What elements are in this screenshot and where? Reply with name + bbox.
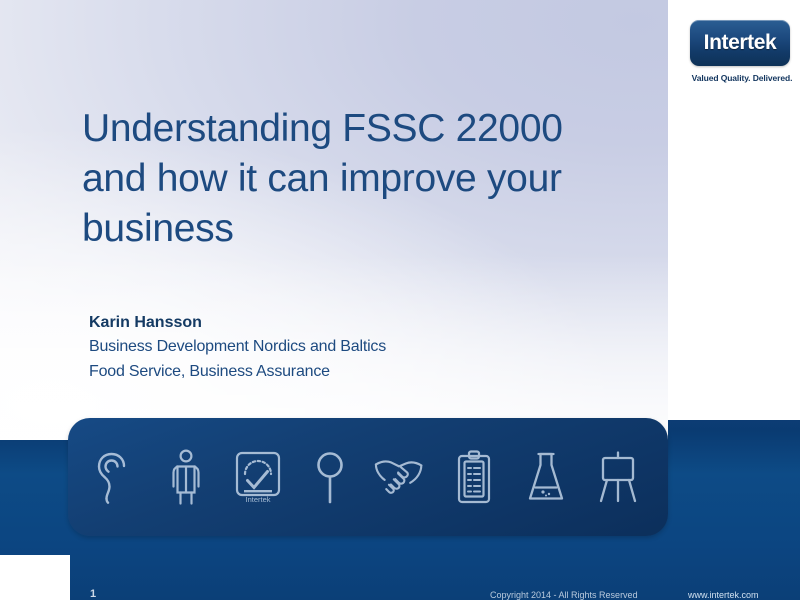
intertek-logo: Intertek Valued Quality. Delivered. <box>690 20 794 83</box>
logo-tagline: Valued Quality. Delivered. <box>690 73 794 83</box>
title-line-1: Understanding FSSC 22000 <box>82 104 622 154</box>
presenter-name: Karin Hansson <box>89 312 589 334</box>
presentation-slide: Intertek Valued Quality. Delivered. Unde… <box>0 0 800 600</box>
icon-band-panel: Intertek <box>68 418 668 536</box>
presenter-role: Business Development Nordics and Baltics <box>89 334 589 359</box>
icon-row: Intertek <box>86 444 646 510</box>
title-line-3: business <box>82 204 622 254</box>
title-line-2: and how it can improve your <box>82 154 622 204</box>
logo-badge: Intertek <box>690 20 790 66</box>
slide-page-number: 1 <box>90 588 96 600</box>
clipboard-checklist-icon <box>446 446 502 508</box>
magnifying-glass-icon <box>302 446 358 508</box>
erlenmeyer-flask-icon <box>518 446 574 508</box>
footer-white-notch <box>0 555 70 600</box>
svg-text:Intertek: Intertek <box>245 495 270 504</box>
person-labcoat-icon <box>158 446 214 508</box>
presenter-department: Food Service, Business Assurance <box>89 359 589 384</box>
easel-flipchart-icon <box>590 446 646 508</box>
page-title: Understanding FSSC 22000 and how it can … <box>82 104 622 254</box>
footer-url[interactable]: www.intertek.com <box>688 590 759 600</box>
handshake-icon <box>374 446 430 508</box>
presenter-block: Karin Hansson Business Development Nordi… <box>89 312 589 384</box>
intertek-certification-mark-icon: Intertek <box>230 446 286 508</box>
logo-wordmark: Intertek <box>704 31 777 55</box>
footer-copyright: Copyright 2014 - All Rights Reserved <box>490 590 638 600</box>
ear-icon <box>86 446 142 508</box>
